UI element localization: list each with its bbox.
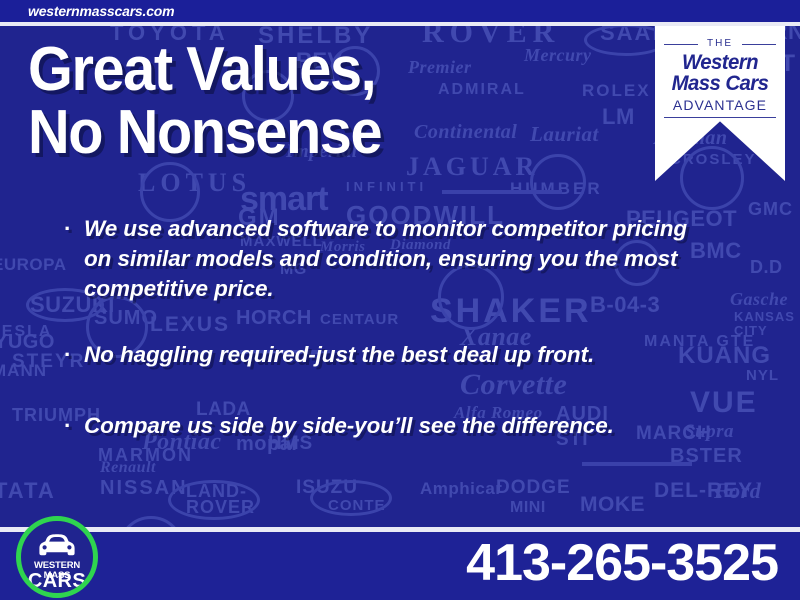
ribbon-tagline: ADVANTAGE xyxy=(655,97,785,116)
header-divider xyxy=(0,22,800,26)
bullet-dot-icon: · xyxy=(64,214,71,244)
ribbon-brand-line-2: Mass Cars xyxy=(657,73,783,94)
ribbon-eyebrow: THE xyxy=(664,38,776,49)
list-item-text: Compare us side by side-you’ll see the d… xyxy=(84,413,614,438)
list-item: · We use advanced software to monitor co… xyxy=(62,214,702,304)
car-icon xyxy=(35,532,79,560)
list-item: · Compare us side by side-you’ll see the… xyxy=(62,411,702,441)
list-item-text: No haggling required-just the best deal … xyxy=(84,342,594,367)
value-proposition-list: · We use advanced software to monitor co… xyxy=(62,214,702,441)
headline-line-1: Great Values, xyxy=(28,38,381,101)
advantage-ribbon: THE Western Mass Cars ADVANTAGE xyxy=(655,24,785,181)
list-item-text: We use advanced software to monitor comp… xyxy=(84,216,687,301)
top-header-bar: westernmasscars.com xyxy=(0,0,800,22)
phone-number[interactable]: 413-265-3525 xyxy=(466,537,778,589)
list-item: · No haggling required-just the best dea… xyxy=(62,340,702,370)
ribbon-content: THE Western Mass Cars ADVANTAGE xyxy=(655,38,785,118)
bullet-dot-icon: · xyxy=(64,411,71,441)
bullet-dot-icon: · xyxy=(64,340,71,370)
page-title: Great Values, No Nonsense xyxy=(28,38,381,164)
website-url[interactable]: westernmasscars.com xyxy=(28,3,174,19)
logo-title: CARS xyxy=(21,571,93,591)
headline-line-2: No Nonsense xyxy=(28,101,381,164)
advertisement-banner: TOYOTA SHELBY ROVER SAAB SATURN PONTIAC … xyxy=(0,0,800,600)
footer-bar: 413-265-3525 xyxy=(0,532,800,600)
ribbon-brand-line-1: Western xyxy=(657,52,783,73)
western-mass-cars-logo[interactable]: WESTERN MASS CARS xyxy=(16,516,98,598)
ribbon-divider xyxy=(664,117,776,118)
